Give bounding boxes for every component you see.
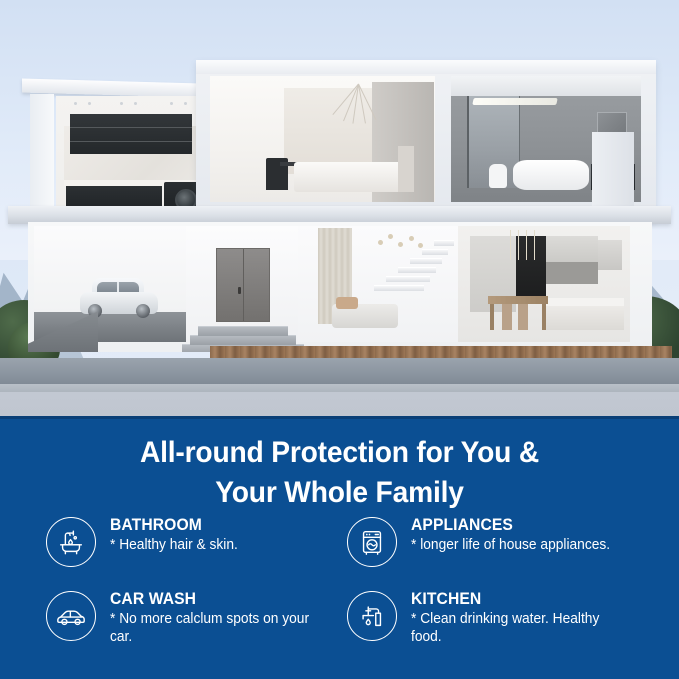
house-cutaway-photo — [0, 0, 679, 416]
car-icon — [46, 591, 96, 641]
lower-floor-block — [28, 222, 652, 352]
feature-kitchen: KITCHEN * Clean drinking water. Healthy … — [347, 589, 634, 647]
bedroom-bed — [294, 162, 412, 192]
kitchen-bar-stool-1 — [502, 304, 512, 330]
feature-kitchen-text: KITCHEN * Clean drinking water. Healthy … — [411, 589, 626, 647]
faucet-drop-icon — [347, 591, 397, 641]
room-living — [298, 226, 458, 342]
feature-bathroom: BATHROOM * Healthy hair & skin. — [46, 515, 333, 567]
living-staircase — [392, 240, 454, 312]
page-title: All-round Protection for You & Your Whol… — [20, 419, 658, 512]
ceiling-lights-laundry — [74, 102, 214, 106]
kitchen-island-leg-right — [542, 304, 546, 330]
upper-floor-block — [196, 60, 656, 220]
room-bedroom — [210, 76, 435, 202]
front-door — [216, 248, 270, 322]
feature-appliances-text: APPLIANCES * longer life of house applia… — [411, 515, 621, 555]
washing-machine-icon — [347, 517, 397, 567]
bedroom-headboard — [398, 146, 414, 192]
room-kitchen — [458, 226, 630, 342]
kitchen-upper-cabinet-2 — [598, 240, 622, 270]
bathroom-ceiling — [451, 76, 641, 96]
wall-left-outer — [30, 94, 54, 214]
headline-line-2: Your Whole Family — [58, 473, 621, 513]
kitchen-island-leg-left — [490, 304, 494, 330]
bathtub-shower-icon — [46, 517, 96, 567]
kitchen-island — [488, 296, 548, 304]
feature-car-wash: CAR WASH * No more calclum spots on your… — [46, 589, 333, 647]
feature-appliances-title: APPLIANCES — [411, 516, 610, 534]
bedroom-chandelier-icon — [330, 84, 390, 128]
promo-banner-page: All-round Protection for You & Your Whol… — [0, 0, 679, 679]
living-throw-pillow — [336, 297, 358, 309]
room-garage — [34, 226, 186, 342]
feature-bathroom-desc: * Healthy hair & skin. — [110, 537, 238, 555]
feature-appliances-desc: * longer life of house appliances. — [411, 537, 610, 555]
door-handle-icon — [238, 287, 241, 294]
bathroom-ceiling-light — [472, 98, 557, 105]
feature-bathroom-text: BATHROOM * Healthy hair & skin. — [110, 515, 245, 555]
upper-ceiling-slab — [196, 60, 656, 74]
foundation-slab — [0, 358, 679, 386]
feature-appliances: APPLIANCES * longer life of house applia… — [347, 515, 634, 567]
bathroom-toilet — [489, 164, 507, 188]
laundry-upper-cabinets — [70, 114, 192, 154]
feature-kitchen-desc: * Clean drinking water. Healthy food. — [411, 611, 615, 646]
kitchen-base-cabinets — [546, 306, 624, 330]
benefits-banner: All-round Protection for You & Your Whol… — [0, 416, 679, 679]
kitchen-upper-cabinet — [546, 236, 598, 262]
bathroom-bathtub — [513, 160, 589, 190]
feature-kitchen-title: KITCHEN — [411, 590, 615, 608]
kitchen-countertop — [546, 298, 624, 306]
benefits-list: BATHROOM * Healthy hair & skin. — [0, 515, 679, 647]
feature-car-wash-desc: * No more calclum spots on your car. — [110, 611, 314, 646]
headline-line-1: All-round Protection for You & — [58, 433, 621, 473]
feature-car-wash-title: CAR WASH — [110, 590, 314, 608]
kitchen-backsplash — [546, 262, 598, 284]
garage-car — [80, 278, 158, 318]
feature-bathroom-title: BATHROOM — [110, 516, 238, 534]
kitchen-bar-stool-2 — [518, 304, 528, 330]
ground-band — [0, 392, 679, 416]
feature-car-wash-text: CAR WASH * No more calclum spots on your… — [110, 589, 325, 647]
living-sofa — [332, 304, 398, 328]
kitchen-pendant-lights-icon — [510, 230, 536, 264]
